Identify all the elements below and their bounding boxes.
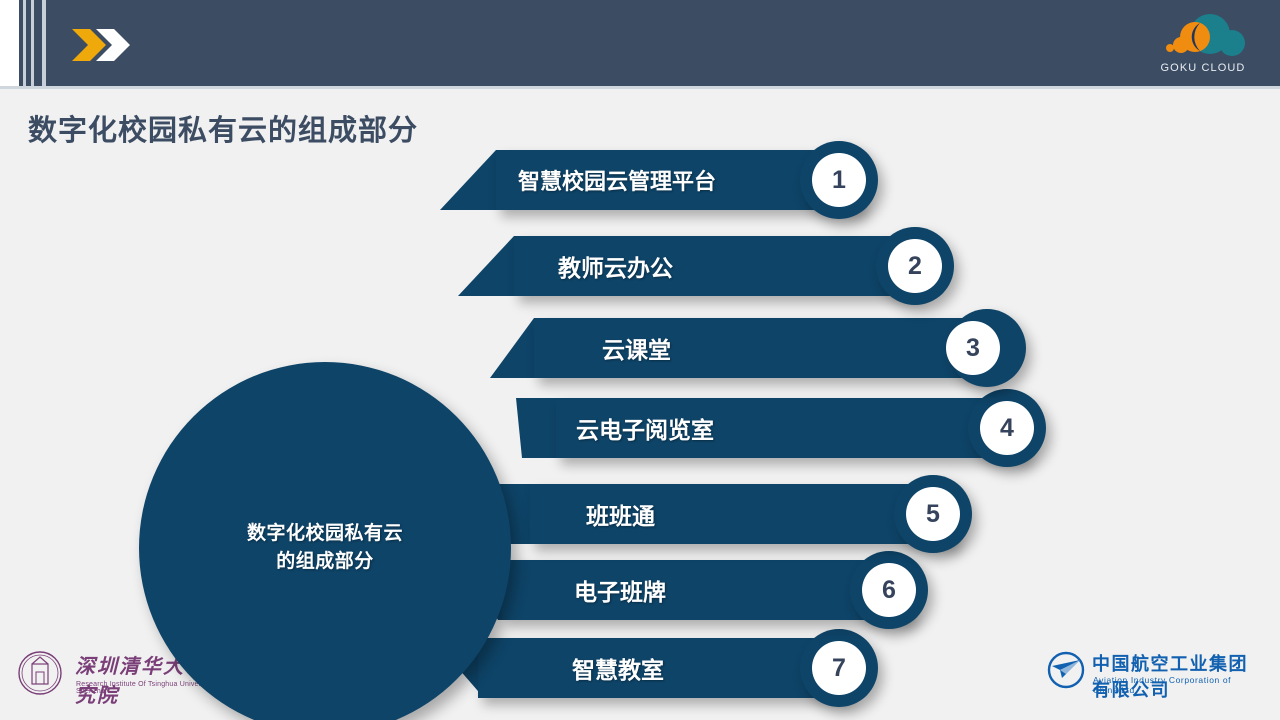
row-4-number: 4	[1000, 414, 1014, 443]
row-5-badge: 5	[906, 487, 960, 541]
hub-label-line-1: 数字化校园私有云	[247, 522, 403, 544]
row-6-label: 电子班牌	[574, 560, 666, 620]
diagram-hub: 数字化校园私有云 的组成部分	[139, 362, 511, 720]
row-2-tail	[458, 236, 522, 296]
slide-canvas: GOKU CLOUD 数字化校园私有云的组成部分 数字化校园私有云 的组成部分 …	[0, 0, 1280, 720]
header-left-margin	[0, 0, 19, 89]
row-4-label: 云电子阅览室	[576, 398, 714, 458]
row-1-badge: 1	[812, 153, 866, 207]
row-6-bar	[502, 560, 910, 620]
header-stripe-2	[31, 0, 34, 89]
row-7-number: 7	[832, 654, 846, 683]
slide-header-band: GOKU CLOUD	[0, 0, 1280, 89]
row-3-badge: 3	[946, 321, 1000, 375]
row-2-number: 2	[908, 252, 922, 281]
row-6-badge: 6	[862, 563, 916, 617]
hub-label-line-2: 的组成部分	[276, 550, 374, 572]
row-4-badge: 4	[980, 401, 1034, 455]
row-1-number: 1	[832, 166, 846, 195]
row-1-tail	[440, 150, 504, 210]
avic-logo: 中国航空工业集团有限公司 Aviation Industry Corporati…	[1046, 650, 1266, 696]
row-7-badge: 7	[812, 641, 866, 695]
row-7-label: 智慧教室	[572, 638, 664, 698]
tsinghua-seal-icon	[18, 648, 62, 698]
header-stripe-3	[42, 0, 46, 89]
row-5-number: 5	[926, 500, 940, 529]
row-2-badge: 2	[888, 239, 942, 293]
avic-emblem-icon	[1046, 650, 1086, 690]
row-2-label: 教师云办公	[558, 236, 673, 296]
row-5-label: 班班通	[586, 484, 655, 544]
header-stripe-1	[23, 0, 26, 89]
avic-name-en: Aviation Industry Corporation of China,L…	[1093, 675, 1266, 695]
header-underline	[0, 86, 1280, 89]
double-chevron-icon	[72, 29, 132, 61]
row-1-label: 智慧校园云管理平台	[518, 150, 716, 210]
goku-cloud-wordmark: GOKU CLOUD	[1148, 62, 1258, 74]
diagram-hub-label: 数字化校园私有云 的组成部分	[247, 520, 403, 575]
row-3-label: 云课堂	[602, 318, 671, 378]
row-6-number: 6	[882, 576, 896, 605]
goku-cloud-logo: GOKU CLOUD	[1148, 12, 1258, 76]
goku-cloud-icon	[1148, 12, 1258, 60]
radial-diagram: 数字化校园私有云 的组成部分 1 智慧校园云管理平台 2 教师云办公	[0, 130, 1280, 700]
row-3-number: 3	[966, 334, 980, 363]
